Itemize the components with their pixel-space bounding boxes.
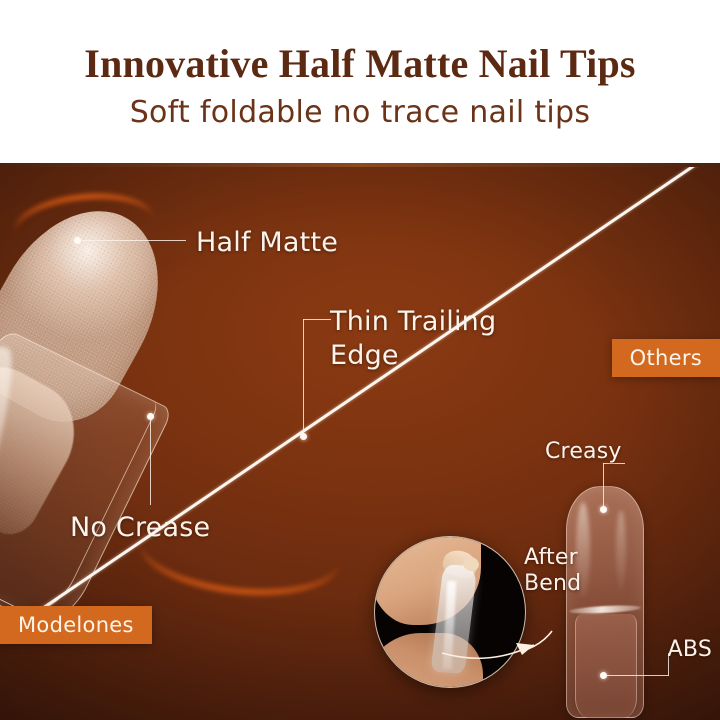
half-matte-leader-line [82,240,186,241]
comparison-stage: Half Matte Thin Trailing Edge No Crease … [0,167,720,720]
label-abs: ABS [668,637,712,662]
label-creasy: Creasy [545,439,622,464]
label-no-crease: No Crease [70,512,210,543]
product-infographic: Innovative Half Matte Nail Tips Soft fol… [0,0,720,720]
header: Innovative Half Matte Nail Tips Soft fol… [0,0,720,165]
creasy-leader-vertical [603,463,604,509]
badge-others: Others [612,339,720,377]
thin-edge-leader-horizontal [303,319,331,320]
no-crease-leader-line [150,419,151,505]
badge-modelones: Modelones [0,606,152,644]
half-matte-leader-dot [74,237,81,244]
page-subtitle: Soft foldable no trace nail tips [130,98,591,128]
label-half-matte: Half Matte [196,227,338,258]
page-title: Innovative Half Matte Nail Tips [84,44,635,84]
label-thin-trailing-edge: Thin Trailing Edge [330,305,530,373]
after-bend-arrow-icon [430,557,620,687]
thin-edge-leader-vertical [303,319,304,437]
creasy-leader-dot [600,506,607,513]
